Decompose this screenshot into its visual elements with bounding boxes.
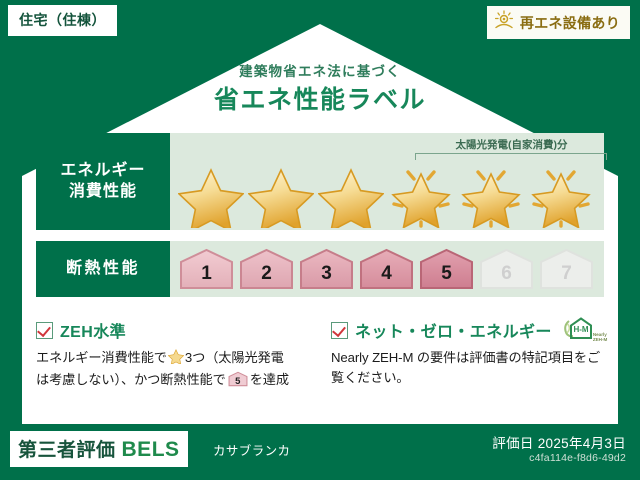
star-plain — [178, 164, 244, 228]
insulation-performance-label: 断熱性能 — [36, 241, 170, 297]
insulation-step-number: 4 — [358, 263, 415, 285]
energy-consumption-label: エネルギー 消費性能 — [36, 133, 170, 230]
solar-generation-note: 太陽光発電(自家消費)分 — [413, 137, 610, 152]
zeh-m-logo: H-M Nearly ZEH-M — [562, 315, 608, 346]
energy-stars-body: 太陽光発電(自家消費)分 — [170, 133, 604, 230]
zeh-standard-column: ZEH水準 エネルギー消費性能で 3つ（太陽光発電 は考慮しない）、かつ断熱性能… — [36, 318, 313, 390]
insulation-step: 6 — [478, 247, 535, 291]
insulation-step: 1 — [178, 247, 235, 291]
insulation-step: 7 — [538, 247, 595, 291]
insulation-step: 5 — [418, 247, 475, 291]
net-zero-energy-column: ネット・ゼロ・エネルギー H-M Nearly ZEH-M — [331, 318, 608, 390]
insulation-step-number: 1 — [178, 263, 235, 285]
net-zero-energy-title: ネット・ゼロ・エネルギー — [355, 318, 552, 342]
page-title: 省エネ性能ラベル — [0, 80, 640, 116]
bels-certification-mark: 第三者評価 BELS — [10, 431, 188, 467]
star-plain — [318, 164, 384, 228]
insulation-step-number: 2 — [238, 263, 295, 285]
property-name: カサブランカ — [213, 440, 290, 459]
svg-text:H-M: H-M — [573, 325, 588, 334]
label-subtitle: 建築物省エネ法に基づく — [0, 60, 640, 80]
checkbox-checked-icon — [331, 322, 348, 339]
zeh-standard-title: ZEH水準 — [60, 318, 126, 342]
insulation-step-scale: 1 2 3 — [178, 247, 595, 291]
star-plain — [248, 164, 314, 228]
bels-wordmark: BELS — [122, 438, 180, 462]
energy-performance-label: 住宅（住棟） 再エネ設備あり 建築物省エネ法に基づく 省エネ性能ラベル — [0, 0, 640, 480]
inline-insulation-grade-number: 5 — [228, 375, 248, 389]
zeh-standard-header: ZEH水準 — [36, 318, 313, 342]
inline-insulation-grade: 5 — [228, 371, 248, 387]
solar-bracket — [415, 153, 607, 160]
zeh-m-logo-subtext: Nearly ZEH-M — [593, 332, 608, 345]
energy-star-rating — [178, 164, 594, 228]
star-solar — [528, 164, 594, 228]
energy-consumption-row: エネルギー 消費性能 太陽光発電(自家消費)分 — [36, 133, 604, 230]
renewable-equipment-badge: 再エネ設備あり — [487, 6, 630, 39]
insulation-step: 2 — [238, 247, 295, 291]
insulation-step-number: 3 — [298, 263, 355, 285]
checkbox-checked-icon — [36, 322, 53, 339]
solar-sun-icon — [493, 10, 515, 35]
insulation-step-number: 7 — [538, 263, 595, 285]
evaluation-id: c4fa114e-f8d6-49d2 — [529, 452, 626, 464]
star-solar — [388, 164, 454, 228]
insulation-step: 4 — [358, 247, 415, 291]
building-category-chip: 住宅（住棟） — [8, 5, 117, 36]
zeh-standard-description: エネルギー消費性能で 3つ（太陽光発電 は考慮しない）、かつ断熱性能で 5 を達… — [36, 348, 313, 390]
third-party-eval-text: 第三者評価 — [18, 435, 116, 462]
insulation-step-number: 5 — [418, 263, 475, 285]
insulation-performance-row: 断熱性能 1 2 — [36, 241, 604, 297]
label-footer: 第三者評価 BELS カサブランカ 評価日 2025年4月3日 c4fa114e… — [0, 424, 640, 480]
insulation-step-number: 6 — [478, 263, 535, 285]
insulation-step: 3 — [298, 247, 355, 291]
insulation-steps-body: 1 2 3 — [170, 241, 604, 297]
renewable-badge-label: 再エネ設備あり — [520, 13, 620, 33]
net-zero-energy-description: Nearly ZEH-M の要件は評価書の特記項目をご覧ください。 — [331, 348, 608, 388]
inline-star-icon — [168, 348, 184, 370]
star-solar — [458, 164, 524, 228]
zeh-m-house-icon: H-M — [562, 315, 592, 346]
building-category-text: 住宅（住棟） — [19, 12, 106, 28]
evaluation-date: 評価日 2025年4月3日 — [492, 432, 626, 452]
net-zero-energy-header: ネット・ゼロ・エネルギー H-M Nearly ZEH-M — [331, 318, 608, 342]
criteria-columns: ZEH水準 エネルギー消費性能で 3つ（太陽光発電 は考慮しない）、かつ断熱性能… — [36, 318, 608, 390]
